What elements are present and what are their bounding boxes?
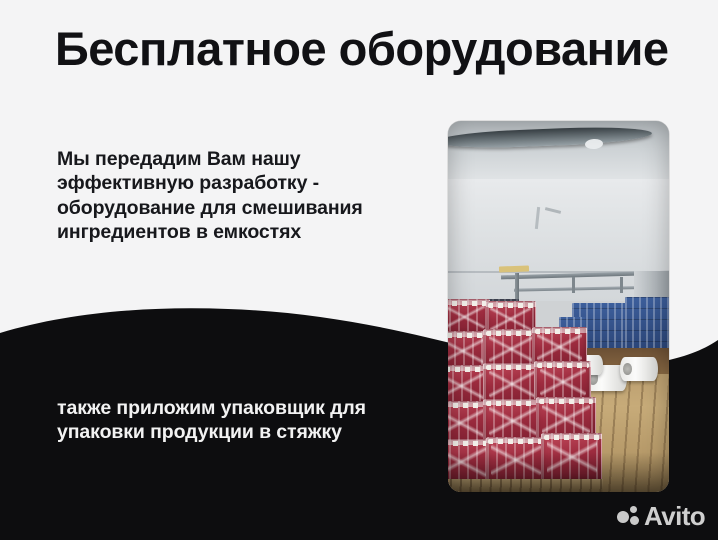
page-title: Бесплатное оборудование [55, 23, 685, 76]
warehouse-ceiling [448, 121, 669, 183]
avito-dots-icon [617, 506, 639, 527]
avito-wordmark: Avito [644, 503, 705, 529]
photo-scene [448, 121, 669, 492]
product-photo [448, 121, 669, 492]
film-roll-2 [620, 357, 658, 381]
pipe-bracket-1 [572, 277, 575, 293]
paragraph-packaging-note: также приложим упаковщик для упаковки пр… [57, 396, 387, 445]
ceiling-light [585, 138, 604, 149]
pipe-label [499, 265, 529, 272]
avito-watermark: Avito [617, 503, 705, 529]
ceiling-beam [448, 125, 652, 150]
pipe-bracket-2 [620, 277, 623, 293]
slide-canvas: Бесплатное оборудование Мы передадим Вам… [0, 0, 718, 540]
floor-bottom-shadow [448, 452, 669, 492]
paragraph-offer-description: Мы передадим Вам нашу эффективную разраб… [57, 147, 432, 245]
